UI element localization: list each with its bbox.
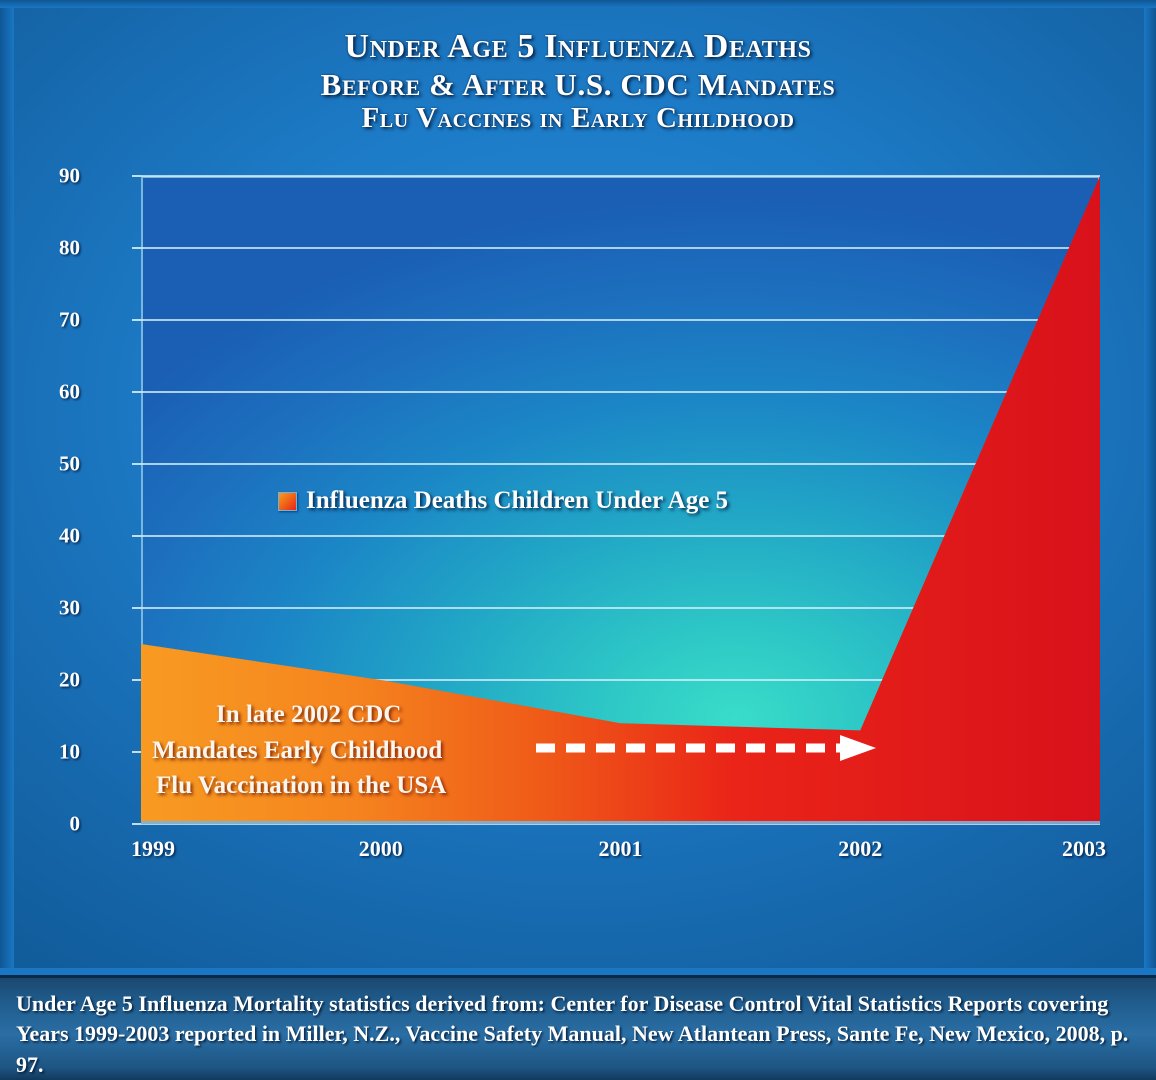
y-axis-tick-label: 80 (20, 236, 80, 261)
square-swatch-icon (278, 492, 297, 511)
y-axis-tick-label: 0 (20, 812, 80, 837)
y-axis-tick-label: 60 (20, 380, 80, 405)
slide-root: Under Age 5 Influenza Deaths Before & Af… (0, 0, 1156, 1080)
chart-legend: Influenza Deaths Children Under Age 5 (278, 487, 728, 515)
annotation-line-2: Mandates Early Childhood (152, 733, 446, 769)
y-axis-tick (132, 607, 141, 609)
x-axis-tick-label: 2000 (359, 836, 403, 862)
y-axis-tick (132, 463, 141, 465)
chart-title-line-3: Flu Vaccines in Early Childhood (0, 102, 1156, 135)
legend-label: Influenza Deaths Children Under Age 5 (306, 487, 728, 515)
y-axis-tick-label: 70 (20, 308, 80, 333)
slide-edge-left (0, 0, 14, 968)
y-axis-tick (132, 175, 141, 177)
x-axis-tick-label: 1999 (131, 836, 175, 862)
dashed-arrow-right-icon (532, 728, 880, 768)
x-axis-tick-label: 2001 (599, 836, 643, 862)
chart-title-line-2: Before & After U.S. CDC Mandates (0, 67, 1156, 102)
source-text: Under Age 5 Influenza Mortality statisti… (16, 989, 1140, 1080)
slide-edge-right (1144, 0, 1156, 968)
y-axis-tick (132, 391, 141, 393)
y-axis-tick (132, 679, 141, 681)
y-axis-tick (132, 319, 141, 321)
annotation-line-3: Flu Vaccination in the USA (152, 768, 446, 804)
y-axis-tick-label: 50 (20, 452, 80, 477)
cdc-mandate-annotation: In late 2002 CDC Mandates Early Childhoo… (152, 697, 446, 804)
y-axis-tick (132, 751, 141, 753)
y-axis-tick (132, 247, 141, 249)
y-axis-tick (132, 535, 141, 537)
chart-title: Under Age 5 Influenza Deaths Before & Af… (0, 28, 1156, 135)
y-axis-tick-label: 40 (20, 524, 80, 549)
y-axis-tick (132, 823, 141, 825)
chart-title-line-1: Under Age 5 Influenza Deaths (0, 28, 1156, 67)
y-axis-tick-label: 30 (20, 596, 80, 621)
slide-edge-top (0, 0, 1156, 8)
source-footer: Under Age 5 Influenza Mortality statisti… (0, 975, 1156, 1080)
annotation-line-1: In late 2002 CDC (152, 697, 446, 733)
x-axis-line (141, 821, 1100, 824)
y-axis-tick-label: 10 (20, 740, 80, 765)
y-axis-tick-label: 90 (20, 164, 80, 189)
x-axis-tick-label: 2002 (838, 836, 882, 862)
x-axis-tick-label: 2003 (1062, 836, 1106, 862)
y-axis-tick-label: 20 (20, 668, 80, 693)
